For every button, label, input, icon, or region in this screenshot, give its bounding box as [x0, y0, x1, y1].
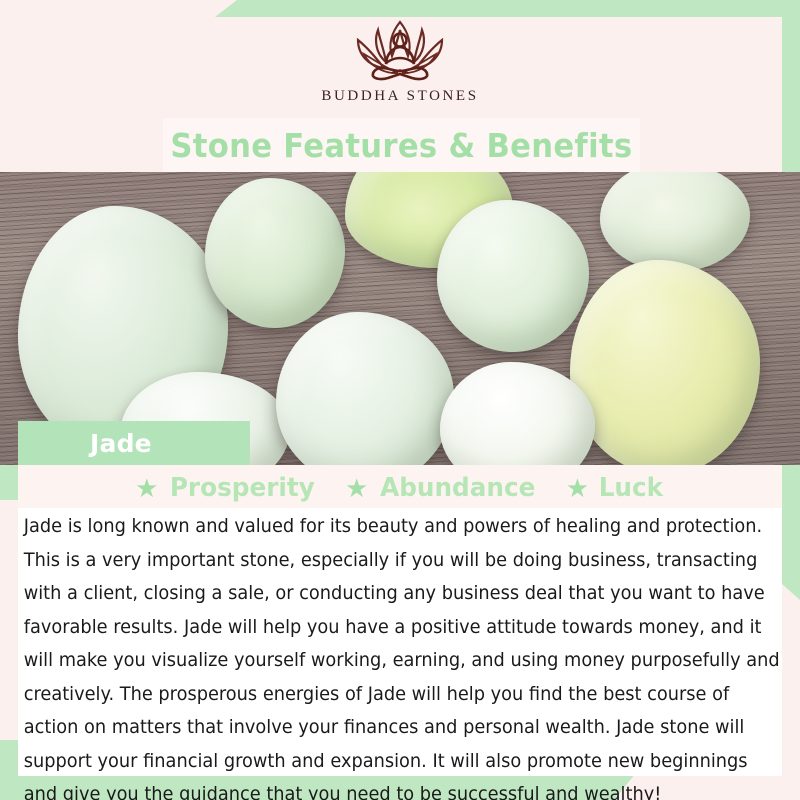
benefit-label: Abundance	[380, 473, 535, 503]
stone-name-label: Jade	[90, 429, 152, 458]
page-title: Stone Features & Benefits	[171, 126, 633, 165]
stone-name-band: Jade	[18, 421, 250, 465]
benefit-item-prosperity: ★ Prosperity	[135, 473, 319, 503]
photo-stone	[205, 178, 345, 328]
lotus-meditation-icon	[330, 16, 470, 84]
brand-wordmark: BUDDHA STONES	[321, 88, 478, 105]
brand-header: BUDDHA STONES	[0, 0, 800, 120]
benefit-label: Prosperity	[170, 473, 315, 503]
star-icon: ★	[135, 475, 158, 501]
description-panel: Jade is long known and valued for its be…	[18, 508, 782, 776]
photo-stone	[437, 200, 589, 352]
benefit-item-abundance: ★ Abundance	[345, 473, 540, 503]
benefit-label: Luck	[599, 473, 663, 503]
decor-ribbon-bottom-left	[0, 740, 20, 800]
benefit-item-luck: ★ Luck	[566, 473, 665, 503]
benefits-list: ★ Prosperity ★ Abundance ★ Luck	[18, 465, 782, 510]
stone-infographic: BUDDHA STONES Stone Features & Benefits …	[0, 0, 800, 800]
star-icon: ★	[566, 475, 589, 501]
star-icon: ★	[345, 475, 368, 501]
description-text: Jade is long known and valued for its be…	[18, 508, 788, 800]
title-banner: Stone Features & Benefits	[163, 118, 640, 172]
